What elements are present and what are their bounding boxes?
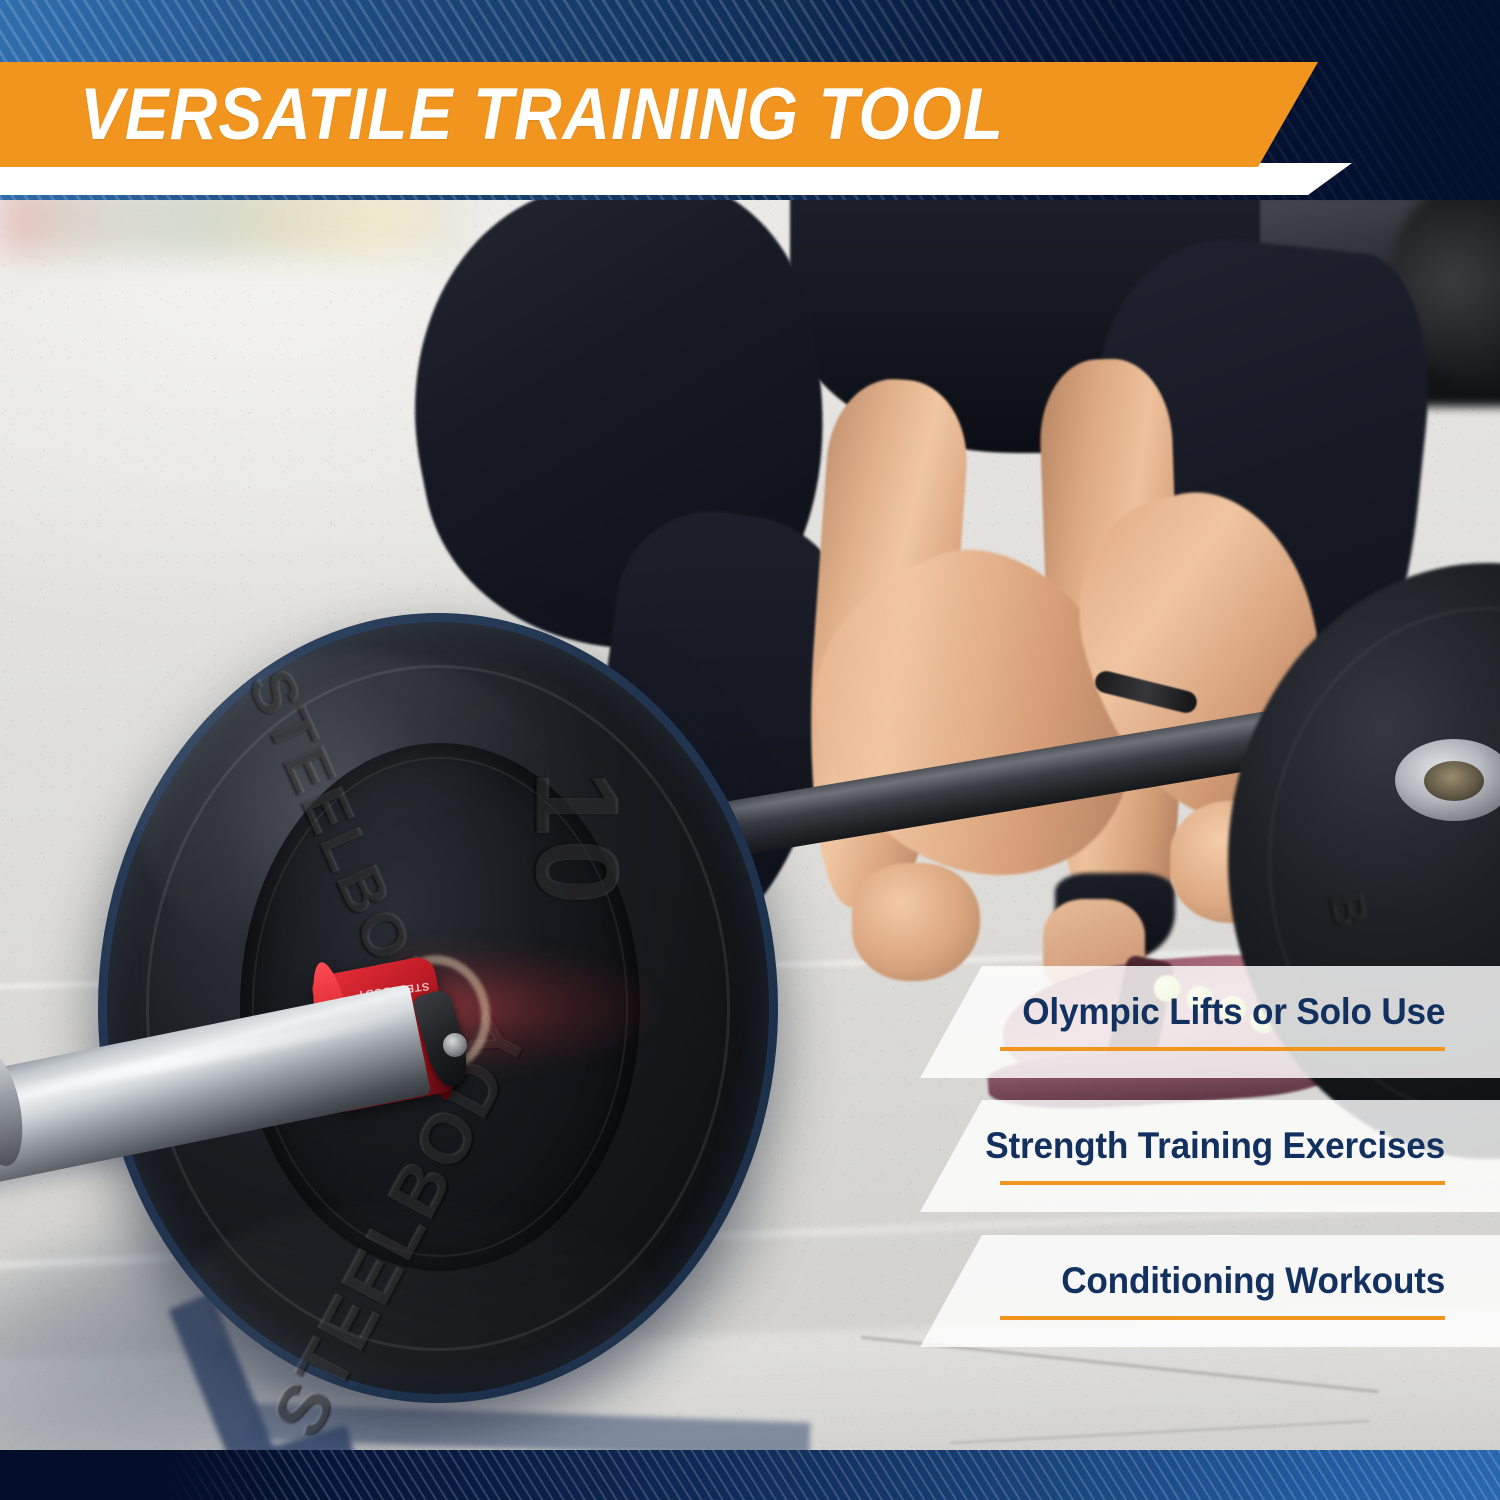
feature-callout-3-rule <box>1000 1316 1445 1320</box>
feature-callout-2: Strength Training Exercises <box>920 1100 1500 1212</box>
barbell-sleeve-end-cap <box>1424 761 1484 801</box>
page-title: VERSATILE TRAINING TOOL <box>80 62 1004 167</box>
feature-callout-1: Olympic Lifts or Solo Use <box>920 966 1500 1078</box>
feature-callout-2-rule <box>1000 1181 1445 1185</box>
collar-pivot-pin <box>443 1033 467 1057</box>
feature-callout-2-label: Strength Training Exercises <box>985 1127 1445 1166</box>
title-banner-underlay <box>0 163 1352 195</box>
marketing-graphic: B 10 STEELBODY STEELBODY STEELBODY <box>0 0 1500 1500</box>
plate-gloss-highlight <box>180 1203 660 1383</box>
athlete-left-fist <box>852 863 980 981</box>
feature-callout-3: Conditioning Workouts <box>920 1235 1500 1347</box>
plate-gloss-highlight <box>140 653 570 983</box>
feature-callout-1-rule <box>1000 1047 1445 1051</box>
bottom-brand-band-gradient <box>0 1450 300 1500</box>
feature-callout-3-label: Conditioning Workouts <box>1061 1262 1445 1301</box>
feature-callout-1-label: Olympic Lifts or Solo Use <box>1022 993 1445 1032</box>
